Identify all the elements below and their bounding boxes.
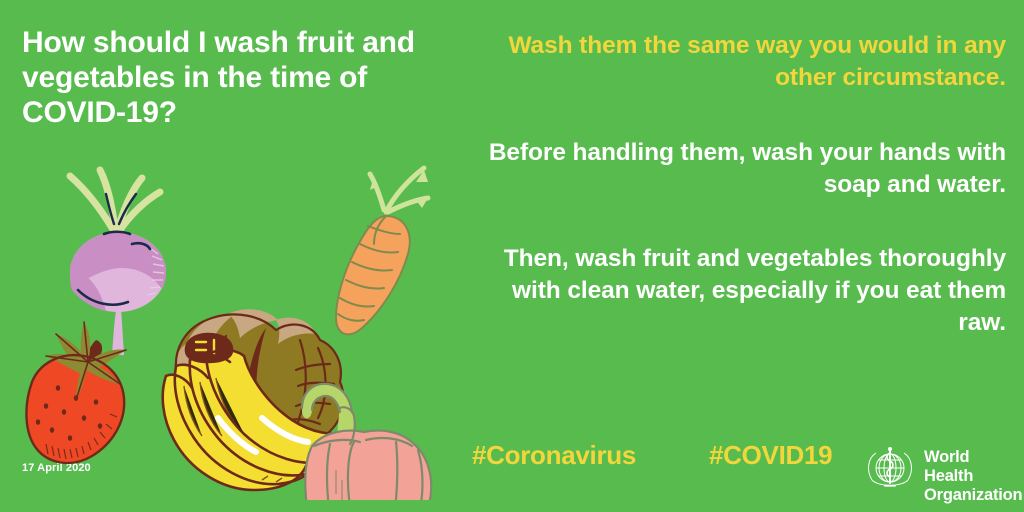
who-infographic-poster: How should I wash fruit and vegetables i…	[0, 0, 1024, 512]
strawberry-illustration	[26, 322, 126, 463]
message-column: Wash them the same way you would in any …	[466, 30, 1006, 339]
page-title: How should I wash fruit and vegetables i…	[22, 26, 462, 130]
hashtag-coronavirus[interactable]: #Coronavirus	[472, 440, 636, 471]
lead-statement: Wash them the same way you would in any …	[466, 30, 1006, 94]
hashtag-row: #Coronavirus #COVID19	[466, 440, 846, 484]
advice-paragraph-1: Before handling them, wash your hands wi…	[466, 137, 1006, 201]
carrot-illustration	[336, 168, 428, 334]
who-wordmark: World Health Organization	[924, 448, 1022, 505]
who-emblem-icon	[862, 444, 918, 496]
produce-illustration	[0, 150, 460, 500]
hashtag-covid19[interactable]: #COVID19	[709, 440, 832, 471]
advice-paragraph-2: Then, wash fruit and vegetables thorough…	[466, 243, 1006, 339]
who-logo: World Health Organization	[862, 444, 1012, 496]
